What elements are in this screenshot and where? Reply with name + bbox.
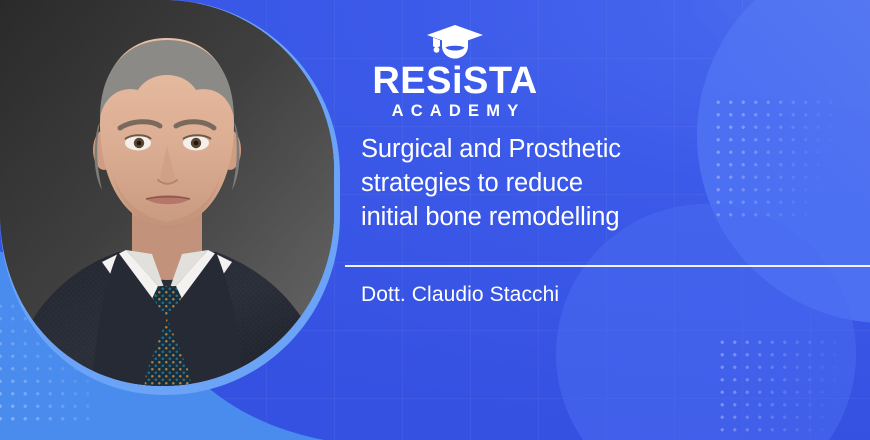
graduation-cap-icon [426,24,484,60]
title-divider [345,265,870,267]
portrait-image-mask [0,0,334,389]
session-title-line-3: initial bone remodelling [361,201,701,235]
brand-logo: RESiSTA ACADEMY [361,24,549,122]
brand-wordmark: RESiSTA [361,63,549,99]
session-title-line-2: strategies to reduce [361,167,701,201]
speaker-name: Dott. Claudio Stacchi [361,283,559,307]
portrait-illustration [0,0,334,389]
speaker-portrait [0,0,340,400]
brand-sub-wordmark: ACADEMY [361,102,549,122]
session-title-line-1: Surgical and Prosthetic [361,133,701,167]
banner-content: RESiSTA ACADEMY Surgical and Prosthetic … [345,0,870,440]
session-title: Surgical and Prosthetic strategies to re… [361,133,701,235]
webinar-banner: RESiSTA ACADEMY Surgical and Prosthetic … [0,0,870,440]
